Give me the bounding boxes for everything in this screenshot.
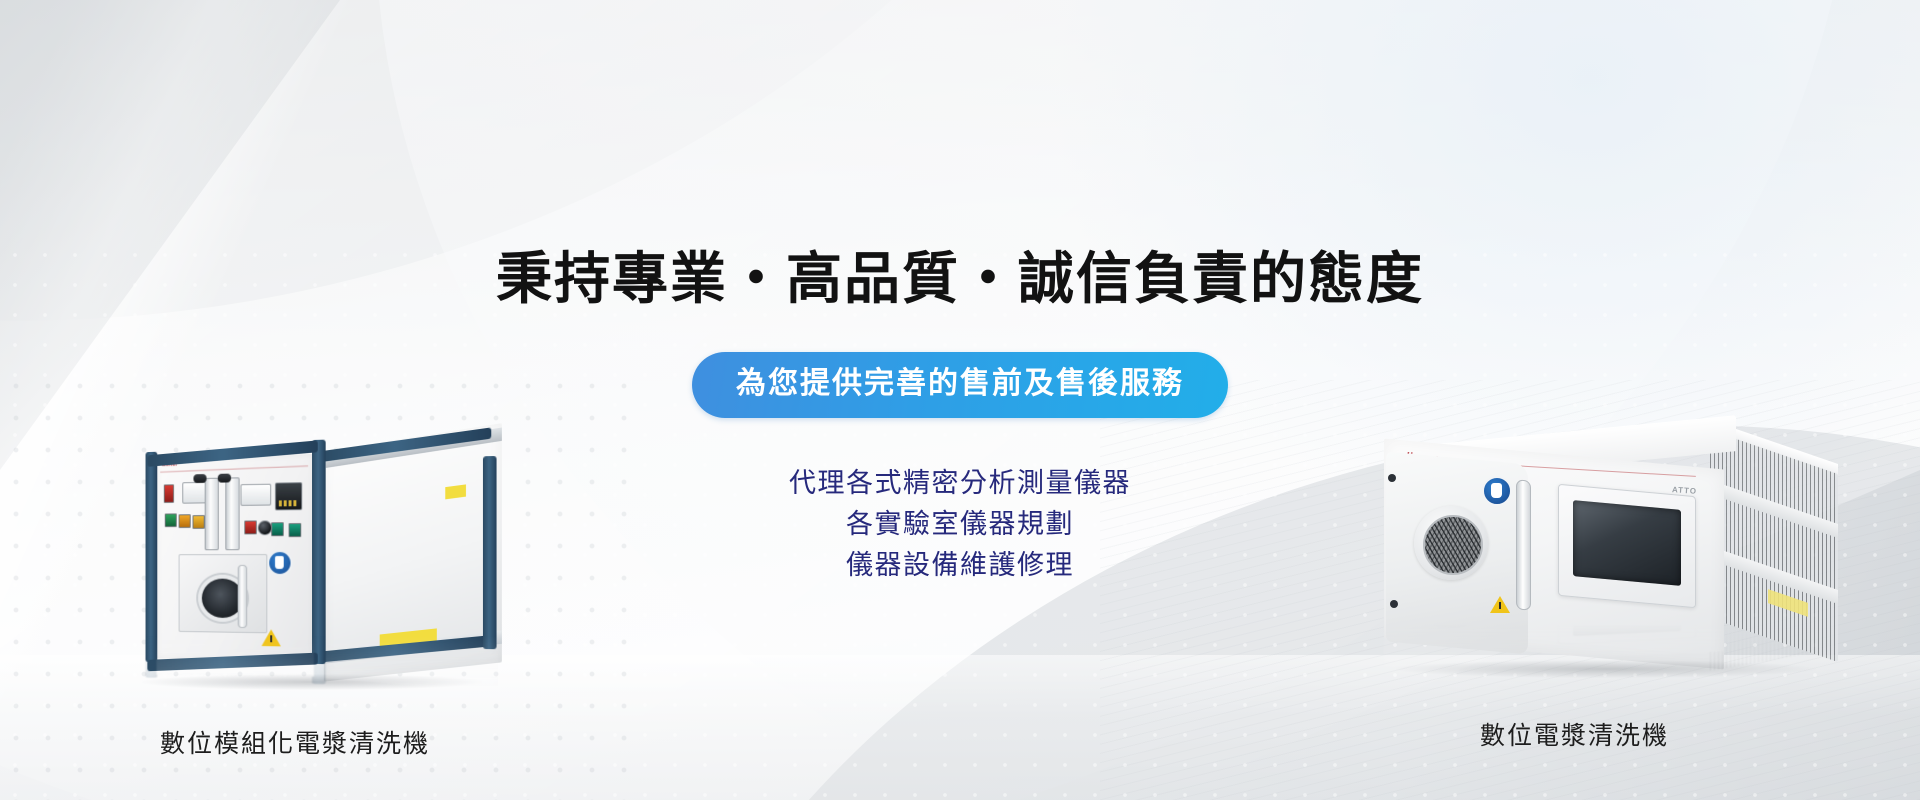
service-list-item-2: 各實驗室儀器規劃 (0, 504, 1920, 545)
product-caption-right: 數位電漿清洗機 (1480, 716, 1669, 752)
hero-banner: diener (0, 0, 1920, 800)
service-list: 代理各式精密分析測量儀器 各實驗室儀器規劃 儀器設備維護修理 (0, 463, 1920, 586)
page-title: 秉持專業・高品質・誠信負責的態度 (0, 248, 1920, 310)
service-cta-button[interactable]: 為您提供完善的售前及售後服務 (692, 352, 1228, 418)
service-list-item-3: 儀器設備維護修理 (0, 545, 1920, 586)
service-list-item-1: 代理各式精密分析測量儀器 (0, 463, 1920, 504)
machine-right-reflection (1376, 612, 1846, 672)
product-caption-left: 數位模組化電漿清洗機 (160, 724, 430, 760)
machine-left-reflection (128, 624, 498, 686)
machine-right-connector-bottom (1390, 600, 1398, 608)
cta-wrapper: 為您提供完善的售前及售後服務 (0, 352, 1920, 418)
machine-right-warning-triangle-icon (1490, 596, 1510, 613)
